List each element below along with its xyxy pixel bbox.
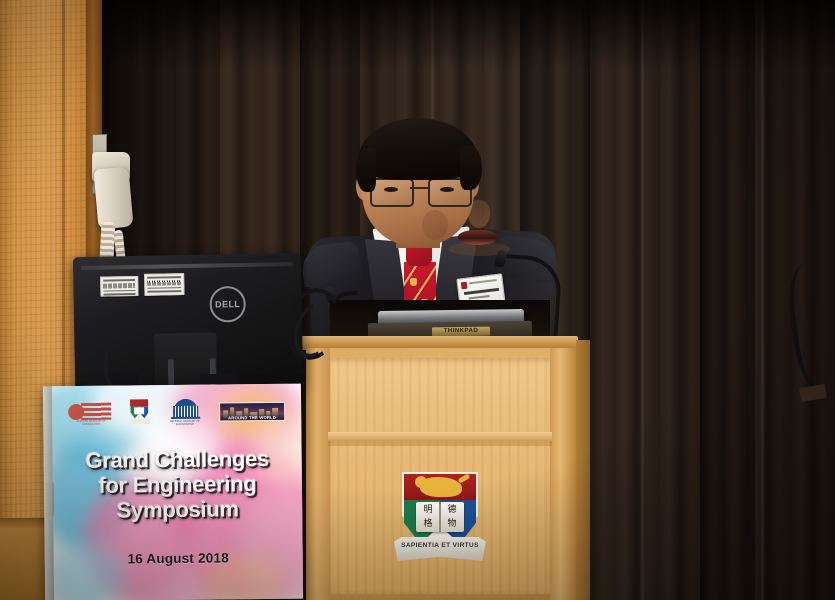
curtain-top-shadow [0, 0, 835, 70]
sign-title-line-2: for Engineering [53, 471, 302, 499]
hair-side-left [356, 148, 376, 192]
curtain-highlight-b [760, 0, 765, 600]
dark-object-above-sign-left [112, 372, 138, 384]
podium-rail [328, 432, 552, 441]
crest-char-2: 德 [447, 506, 456, 515]
cheek-shadow [422, 210, 448, 240]
around-the-world-banner-icon: AROUND THE WORLD [219, 401, 285, 421]
eyeglasses [370, 178, 470, 204]
badge-line-org [469, 279, 497, 284]
podium-post-right [550, 348, 576, 600]
nae-logo-caption: NATIONAL ACADEMY OF ENGINEERING [167, 420, 203, 426]
curtain-highlight-a [640, 0, 645, 600]
badge-line-role [469, 295, 490, 300]
sign-date: 16 August 2018 [54, 550, 303, 568]
monitor-asset-label-1 [100, 276, 138, 297]
eyeglass-bridge [410, 187, 428, 189]
chinese-academy-of-engineering-logo-icon: CHINESE ACADEMY OF ENGINEERING [68, 402, 112, 424]
crest-motto: SAPIENTIA ET VIRTUS [394, 542, 486, 549]
sign-title: Grand Challenges for Engineering Symposi… [53, 446, 303, 524]
eyeglass-lens-left [370, 178, 414, 207]
dark-object-above-sign-right [200, 374, 238, 384]
podium-rail-shadow [328, 441, 552, 446]
monitor-asset-label-2 [144, 273, 184, 296]
crest-char-1: 明 [423, 506, 432, 515]
hair-side-right [460, 146, 482, 190]
crest-lion-head-icon [415, 476, 427, 488]
eye-right [440, 187, 454, 192]
cae-logo-caption: CHINESE ACADEMY OF ENGINEERING [70, 420, 112, 426]
national-academy-of-engineering-logo-icon: NATIONAL ACADEMY OF ENGINEERING [167, 399, 203, 425]
around-the-world-banner-text: AROUND THE WORLD [220, 414, 284, 420]
crest-scroll [394, 536, 486, 562]
eye-left [384, 187, 398, 192]
crest-char-3: 格 [423, 520, 432, 529]
sign-logo-row: CHINESE ACADEMY OF ENGINEERING NATIONAL … [52, 394, 301, 431]
dell-logo: DELL [209, 286, 246, 323]
podium-post-left [306, 348, 330, 600]
photo-scene: THINKPAD 明 德 格 物 SAPIENTIA ET VIRTUS [0, 0, 835, 600]
monitor-top-vent [81, 262, 293, 270]
badge-crest-icon [461, 282, 468, 290]
hku-logo-icon [128, 399, 150, 425]
podium-side-right [576, 340, 590, 600]
sign-title-line-1: Grand Challenges [53, 446, 302, 474]
curtain-fold-c [700, 0, 755, 600]
telephone-handset[interactable] [93, 167, 133, 230]
hku-crest: 明 德 格 物 SAPIENTIA ET VIRTUS [394, 472, 486, 570]
event-sign: CHINESE ACADEMY OF ENGINEERING NATIONAL … [43, 384, 303, 600]
sign-clip [45, 482, 54, 516]
sign-title-line-3: Symposium [53, 496, 302, 524]
crest-characters: 明 德 格 物 [416, 503, 464, 531]
laptop-brand-plate: THINKPAD [432, 327, 490, 337]
badge-line-name [464, 288, 499, 295]
crest-char-4: 物 [447, 520, 456, 529]
laptop-brand-text: THINKPAD [432, 327, 490, 337]
shoulder-left [300, 241, 362, 288]
